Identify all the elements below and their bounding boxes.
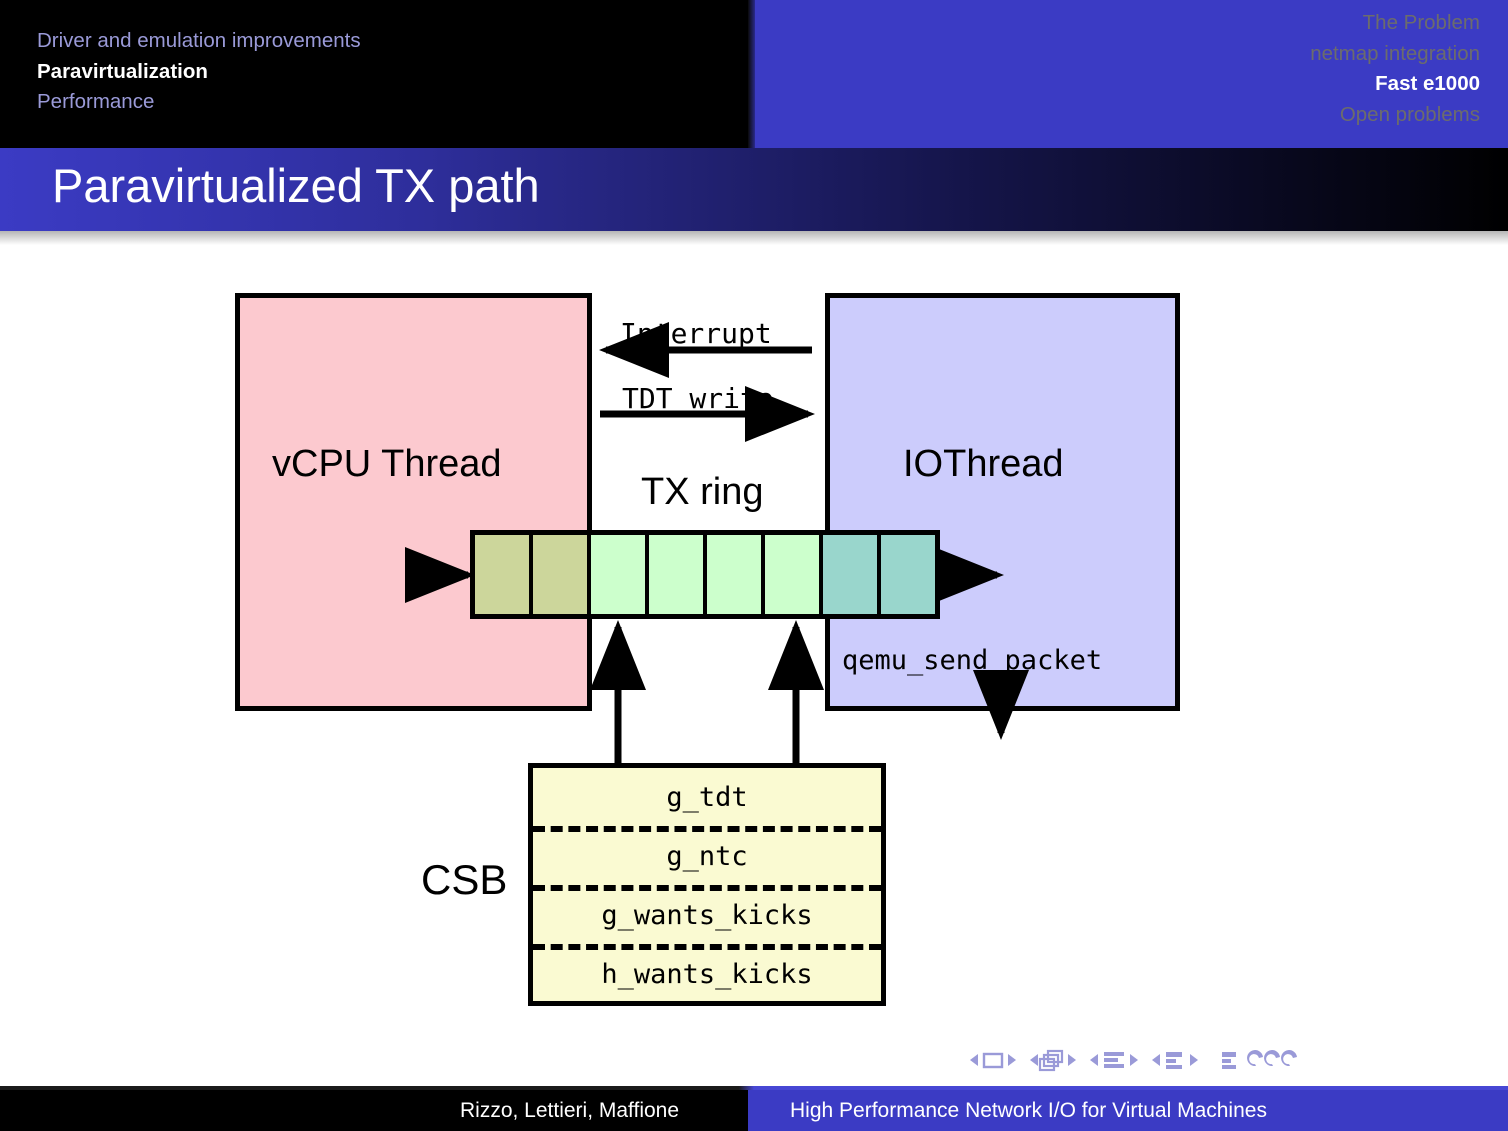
footer-bar: Rizzo, Lettieri, Maffione High Performan…	[0, 1090, 1508, 1131]
nav-section-netmap-integration[interactable]: netmap integration	[1310, 39, 1480, 70]
slide: The Problem netmap integration Fast e100…	[0, 0, 1508, 1131]
csb-row-g-tdt: g_tdt	[533, 768, 881, 827]
diagram-canvas: vCPU Thread IOThread qemu_send_packet TX…	[0, 245, 1508, 1045]
section-navigation-bar: The Problem netmap integration Fast e100…	[0, 0, 1508, 148]
nav-section-open-problems[interactable]: Open problems	[1310, 100, 1480, 131]
csb-field-label: g_tdt	[666, 782, 747, 813]
csb-label: CSB	[421, 856, 507, 904]
ring-slot[interactable]	[881, 535, 935, 614]
tx-ring	[470, 530, 940, 619]
next-subsection-icon	[1130, 1054, 1138, 1066]
nav-subsection-driver-and-emulation-improvements[interactable]: Driver and emulation improvements	[37, 26, 361, 57]
footer-talk-title: High Performance Network I/O for Virtual…	[790, 1099, 1267, 1123]
csb-divider	[533, 885, 881, 891]
csb-field-label: h_wants_kicks	[601, 959, 812, 990]
interrupt-arrow-label: Interrupt	[620, 317, 772, 350]
section-icon	[1166, 1052, 1182, 1069]
back-icon	[1247, 1050, 1263, 1066]
doc-icon	[1222, 1052, 1236, 1069]
navigation-separator	[748, 0, 755, 148]
ring-slot[interactable]	[533, 535, 591, 614]
prev-slide-icon	[970, 1054, 978, 1066]
search-icon	[1264, 1050, 1280, 1066]
title-shadow	[0, 231, 1508, 245]
subsection-list: Driver and emulation improvements Paravi…	[37, 26, 361, 118]
next-section-icon	[1190, 1054, 1198, 1066]
csb-divider	[533, 826, 881, 832]
prev-section-icon	[1152, 1054, 1160, 1066]
nav-section-fast-e1000[interactable]: Fast e1000	[1310, 69, 1480, 100]
tdt-write-arrow-label: TDT write	[622, 382, 774, 415]
prev-subsection-icon	[1090, 1054, 1098, 1066]
csb-row-h-wants-kicks: h_wants_kicks	[533, 945, 881, 1004]
prev-frame-icon	[1030, 1054, 1038, 1066]
csb-box: g_tdt g_ntc g_wants_kicks h_wants_kicks	[528, 763, 886, 1006]
csb-field-label: g_ntc	[666, 841, 747, 872]
subsection-icon	[1104, 1052, 1124, 1068]
nav-section-the-problem[interactable]: The Problem	[1310, 8, 1480, 39]
vcpu-thread-label: vCPU Thread	[272, 443, 502, 486]
qemu-send-packet-label: qemu_send_packet	[842, 645, 1102, 676]
ring-slot[interactable]	[765, 535, 823, 614]
ring-slot[interactable]	[649, 535, 707, 614]
next-slide-icon	[1008, 1054, 1016, 1066]
csb-divider	[533, 944, 881, 950]
ring-slot[interactable]	[591, 535, 649, 614]
csb-row-g-ntc: g_ntc	[533, 827, 881, 886]
nav-subsection-performance[interactable]: Performance	[37, 87, 361, 118]
tx-ring-label: TX ring	[641, 471, 763, 514]
nav-subsection-paravirtualization[interactable]: Paravirtualization	[37, 57, 361, 88]
next-frame-icon	[1068, 1054, 1076, 1066]
slide-icon	[984, 1054, 1002, 1067]
footer-authors: Rizzo, Lettieri, Maffione	[460, 1099, 679, 1123]
csb-field-label: g_wants_kicks	[601, 900, 812, 931]
ring-slot[interactable]	[475, 535, 533, 614]
iothread-label: IOThread	[903, 443, 1064, 486]
beamer-navigation-symbols[interactable]	[968, 1044, 1298, 1076]
forward-icon	[1281, 1050, 1297, 1066]
ring-slot[interactable]	[707, 535, 765, 614]
section-list: The Problem netmap integration Fast e100…	[1310, 8, 1480, 130]
csb-row-g-wants-kicks: g_wants_kicks	[533, 886, 881, 945]
vcpu-thread-box	[235, 293, 592, 711]
ring-slot[interactable]	[823, 535, 881, 614]
page-title: Paravirtualized TX path	[52, 158, 540, 213]
